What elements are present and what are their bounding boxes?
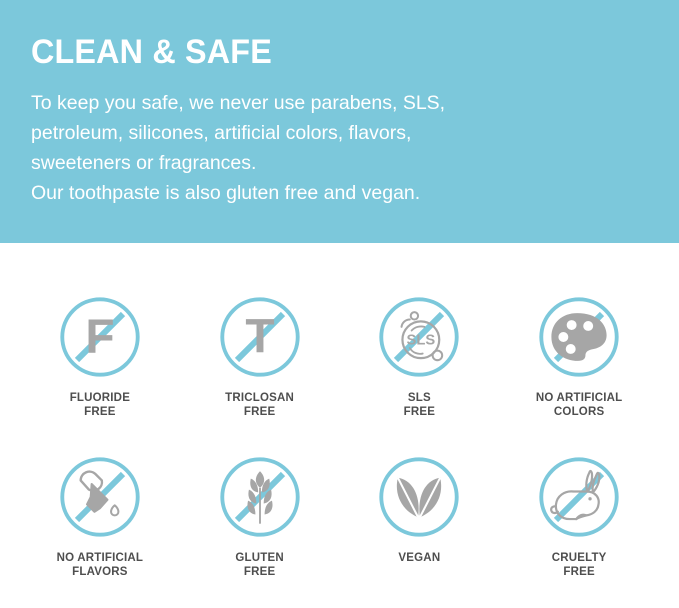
- hero-description: To keep you safe, we never use parabens,…: [31, 88, 649, 208]
- badge-label: NO ARTIFICIAL FLAVORS: [57, 551, 144, 579]
- badge-sls-free: SLS SLS FREE: [344, 291, 494, 419]
- fluoride-free-icon: F: [54, 291, 146, 383]
- page-title: CLEAN & SAFE: [31, 32, 618, 72]
- wheat-stalk-icon: [247, 471, 272, 523]
- svg-text:F: F: [85, 311, 114, 364]
- badge-gluten-free: GLUTEN FREE: [185, 451, 335, 579]
- cruelty-free-icon: [533, 451, 625, 543]
- badge-label: FLUORIDE FREE: [70, 391, 130, 419]
- badge-vegan: VEGAN: [344, 451, 494, 565]
- hero-banner: CLEAN & SAFE To keep you safe, we never …: [0, 0, 679, 243]
- badge-row-1: F FLUORIDE FREE T TRICLOSAN FREE: [20, 291, 659, 419]
- triclosan-free-icon: T: [214, 291, 306, 383]
- no-artificial-flavors-icon: [54, 451, 146, 543]
- badge-no-artificial-colors: NO ARTIFICIAL COLORS: [504, 291, 654, 419]
- hero-line-1: To keep you safe, we never use parabens,…: [31, 88, 649, 118]
- hero-line-4: Our toothpaste is also gluten free and v…: [31, 178, 649, 208]
- badge-label: NO ARTIFICIAL COLORS: [536, 391, 623, 419]
- badge-label: GLUTEN FREE: [235, 551, 283, 579]
- badge-label: VEGAN: [398, 551, 440, 565]
- badge-row-2: NO ARTIFICIAL FLAVORS: [20, 451, 659, 579]
- badge-label: CRUELTY FREE: [552, 551, 607, 579]
- paint-palette-icon: [552, 313, 607, 361]
- badge-label: SLS FREE: [404, 391, 435, 419]
- badge-no-artificial-flavors: NO ARTIFICIAL FLAVORS: [25, 451, 175, 579]
- leaves-icon: [397, 478, 441, 518]
- hero-line-2: petroleum, silicones, artificial colors,…: [31, 118, 649, 148]
- gluten-free-icon: [214, 451, 306, 543]
- clean-and-safe-infographic: CLEAN & SAFE To keep you safe, we never …: [0, 0, 679, 608]
- badge-triclosan-free: T TRICLOSAN FREE: [185, 291, 335, 419]
- badge-label: TRICLOSAN FREE: [225, 391, 294, 419]
- svg-text:T: T: [245, 311, 274, 364]
- hero-line-3: sweeteners or fragrances.: [31, 148, 649, 178]
- no-artificial-colors-icon: [533, 291, 625, 383]
- badge-grid: F FLUORIDE FREE T TRICLOSAN FREE: [0, 243, 679, 608]
- rabbit-icon: [551, 471, 599, 519]
- badge-cruelty-free: CRUELTY FREE: [504, 451, 654, 579]
- vegan-icon: [373, 451, 465, 543]
- badge-fluoride-free: F FLUORIDE FREE: [25, 291, 175, 419]
- sls-free-icon: SLS: [373, 291, 465, 383]
- svg-text:SLS: SLS: [407, 333, 436, 349]
